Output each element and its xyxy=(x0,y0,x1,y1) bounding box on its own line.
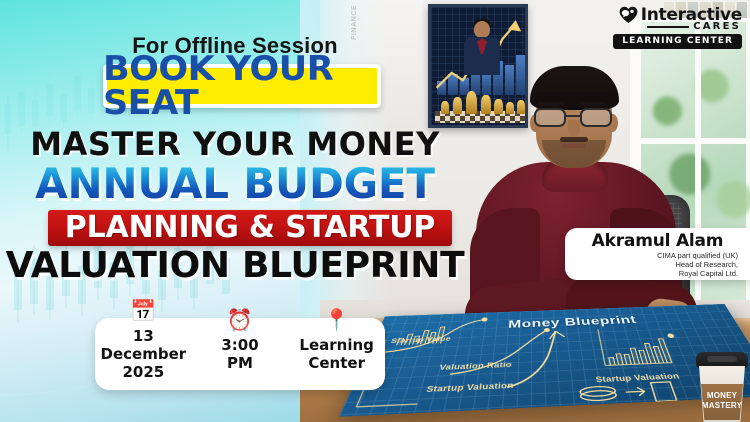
event-venue-line1: Learning xyxy=(288,336,385,354)
event-venue-line2: Center xyxy=(288,354,385,372)
speaker-photo xyxy=(470,58,680,324)
logo-divider-rule xyxy=(647,26,689,28)
speaker-credential: CIMA part qualified (UK) xyxy=(575,251,740,260)
speaker-name: Akramul Alam xyxy=(575,232,740,251)
nose xyxy=(568,120,580,136)
promo-banner: FINANCE xyxy=(0,0,750,422)
event-time-line2: PM xyxy=(192,354,289,372)
heart-chat-icon xyxy=(619,6,638,24)
blueprint-line-charts xyxy=(339,304,750,417)
info-cell-venue: 📍 Learning Center xyxy=(288,336,385,372)
coffee-cup: MONEY MASTERY xyxy=(696,352,748,422)
learning-center-badge: LEARNING CENTER xyxy=(613,34,742,49)
planning-startup-label: PLANNING & STARTUP xyxy=(65,213,435,243)
location-pin-icon: 📍 xyxy=(324,310,350,331)
info-cell-time: ⏰ 3:00 PM xyxy=(192,336,289,372)
book-your-seat-badge[interactable]: BOOK YOUR SEAT xyxy=(103,64,381,108)
cup-sleeve-text: MONEY MASTERY xyxy=(701,384,743,420)
brand-logo[interactable]: Interactive CARES LEARNING CENTER xyxy=(606,6,742,46)
event-time-line1: 3:00 xyxy=(192,336,289,354)
info-cell-date: 📅 13 December 2025 xyxy=(95,327,192,381)
event-info-bar: 📅 13 December 2025 ⏰ 3:00 PM 📍 Learning … xyxy=(95,318,385,390)
speaker-name-card: Akramul Alam CIMA part qualified (UK) He… xyxy=(565,228,750,280)
calendar-icon: 📅 xyxy=(130,301,156,322)
title-line-valuation-blueprint: VALUATION BLUEPRINT xyxy=(0,248,470,284)
cup-text-line2: MASTERY xyxy=(701,401,743,411)
logo-cares-text: CARES xyxy=(693,22,741,32)
speaker-role: Head of Research, xyxy=(575,260,740,269)
eyebrow-left xyxy=(538,102,564,106)
planning-startup-banner: PLANNING & STARTUP xyxy=(48,210,452,246)
speaker-company: Royal Capital Ltd. xyxy=(575,269,740,278)
eyebrow-right xyxy=(580,102,606,106)
title-line-master-your-money: MASTER YOUR MONEY xyxy=(0,128,470,160)
alarm-clock-icon: ⏰ xyxy=(227,310,253,331)
cup-lid xyxy=(696,352,748,368)
money-blueprint-sheet: Money Blueprint Startup Value Valuation … xyxy=(339,304,750,417)
event-date-line2: 2025 xyxy=(95,363,192,381)
moustache xyxy=(560,137,588,142)
title-line-annual-budget: ANNUAL BUDGET xyxy=(0,163,470,205)
mouth xyxy=(562,144,586,148)
logo-sub-row: CARES xyxy=(647,22,741,32)
book-your-seat-label: BOOK YOUR SEAT xyxy=(103,52,381,120)
cup-text-line1: MONEY xyxy=(701,391,743,401)
event-date-line1: 13 December xyxy=(95,327,192,363)
